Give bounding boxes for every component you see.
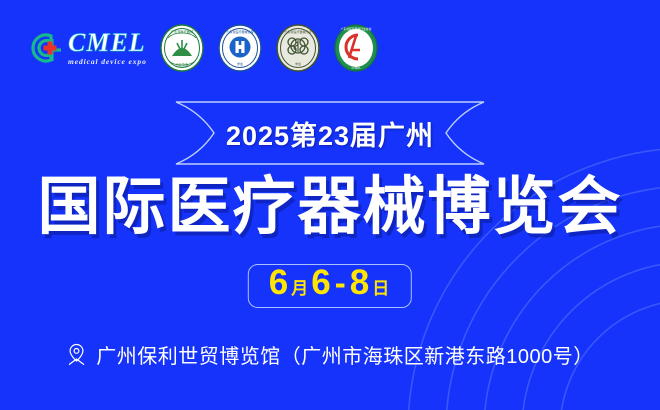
page-title: 国际医疗器械博览会 — [0, 176, 660, 239]
svg-text:广东省医疗器械行业: 广东省医疗器械行业 — [284, 29, 311, 34]
location-pin-icon — [66, 343, 87, 366]
date-range-dash: - — [335, 266, 346, 299]
association-seal-green-plant: 广东省医疗器械 行业协会 — [159, 22, 205, 74]
cmel-logo: CMEL medical device expo — [28, 22, 147, 74]
svg-text:行业协会: 行业协会 — [175, 62, 189, 67]
venue-line: 广州保利世贸博览馆（广州市海珠区新港东路1000号） — [0, 340, 660, 369]
association-seal-blue-h: 广东省医疗器械管理 学会 — [217, 22, 263, 74]
date-day-unit: 日 — [372, 280, 389, 297]
svg-text:广东省医疗器械: 广东省医疗器械 — [171, 29, 194, 34]
edition-ribbon-text: 2025第23届广州 — [170, 98, 490, 168]
logo-strip: CMEL medical device expo 广东省医疗器械 行业协会 — [28, 20, 379, 76]
cross-in-circle-icon — [28, 30, 64, 66]
association-seal-green-ca: 广东省医疗器械行业协会 CHINA — [333, 22, 379, 74]
date-month-number: 6 — [269, 265, 288, 300]
svg-text:CHINA: CHINA — [351, 66, 360, 70]
date-month-unit: 月 — [291, 280, 308, 297]
poster-canvas: CMEL medical device expo 广东省医疗器械 行业协会 — [0, 0, 660, 410]
date-badge: 6 月 6 - 8 日 — [248, 264, 412, 308]
svg-text:广东省医疗器械管理: 广东省医疗器械管理 — [226, 29, 253, 34]
svg-text:学会: 学会 — [237, 61, 243, 66]
date-day-start: 6 — [311, 265, 330, 300]
cmel-wordmark: CMEL — [68, 30, 147, 56]
cmel-wordmark-block: CMEL medical device expo — [68, 30, 147, 66]
cmel-subtitle: medical device expo — [68, 58, 147, 66]
svg-text:学会: 学会 — [295, 61, 301, 66]
edition-ribbon: 2025第23届广州 — [170, 98, 490, 168]
date-day-end: 8 — [350, 265, 369, 300]
venue-text: 广州保利世贸博览馆（广州市海珠区新港东路1000号） — [96, 340, 594, 369]
svg-text:广东省医疗器械行业协会: 广东省医疗器械行业协会 — [340, 27, 371, 31]
association-seal-darkgreen-caduceus: 广东省医疗器械行业 学会 — [275, 22, 321, 74]
